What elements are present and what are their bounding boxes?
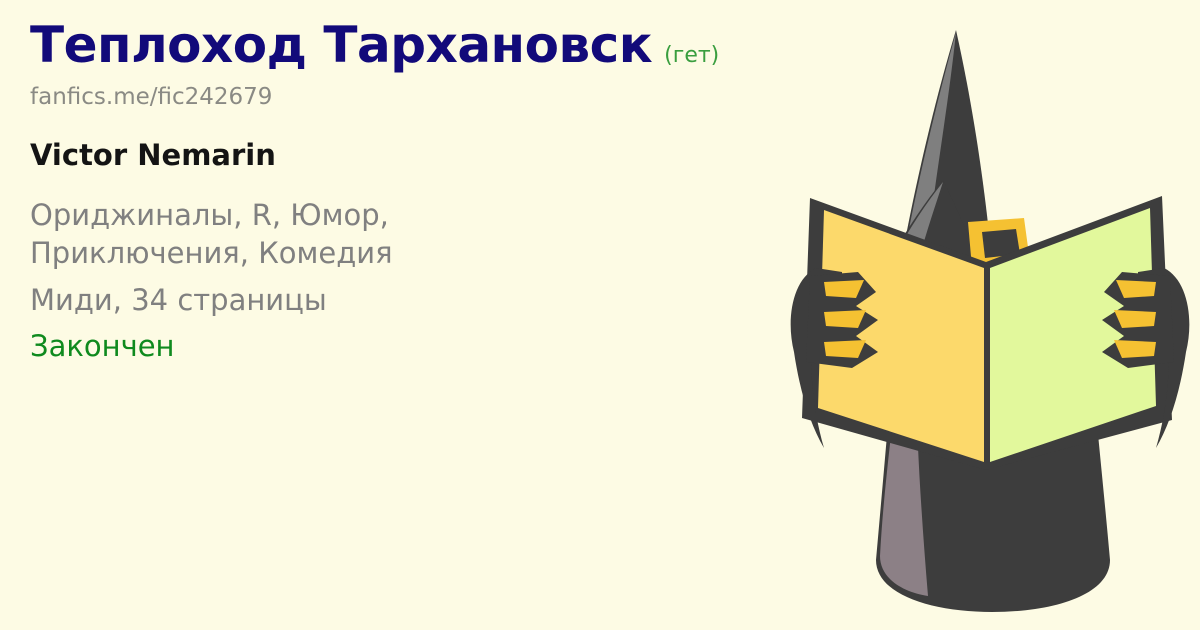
witch-reading-book-illustration — [780, 0, 1200, 630]
fic-genres: Ориджиналы, R, Юмор, Приключения, Комеди… — [30, 196, 550, 273]
title-row: Теплоход Тархановск(гет) — [30, 18, 790, 73]
fic-author[interactable]: Victor Nemarin — [30, 140, 790, 172]
fic-category-label: (гет) — [664, 43, 719, 68]
book-spine — [985, 266, 989, 466]
page-title: Теплоход Тархановск — [30, 16, 652, 74]
fic-info-column: Теплоход Тархановск(гет) fanfics.me/fic2… — [30, 18, 790, 365]
fic-size: Миди, 34 страницы — [30, 281, 790, 319]
status-badge: Закончен — [30, 327, 790, 365]
fanfic-preview-card: Теплоход Тархановск(гет) fanfics.me/fic2… — [0, 0, 1200, 630]
fic-url[interactable]: fanfics.me/fic242679 — [30, 85, 790, 110]
